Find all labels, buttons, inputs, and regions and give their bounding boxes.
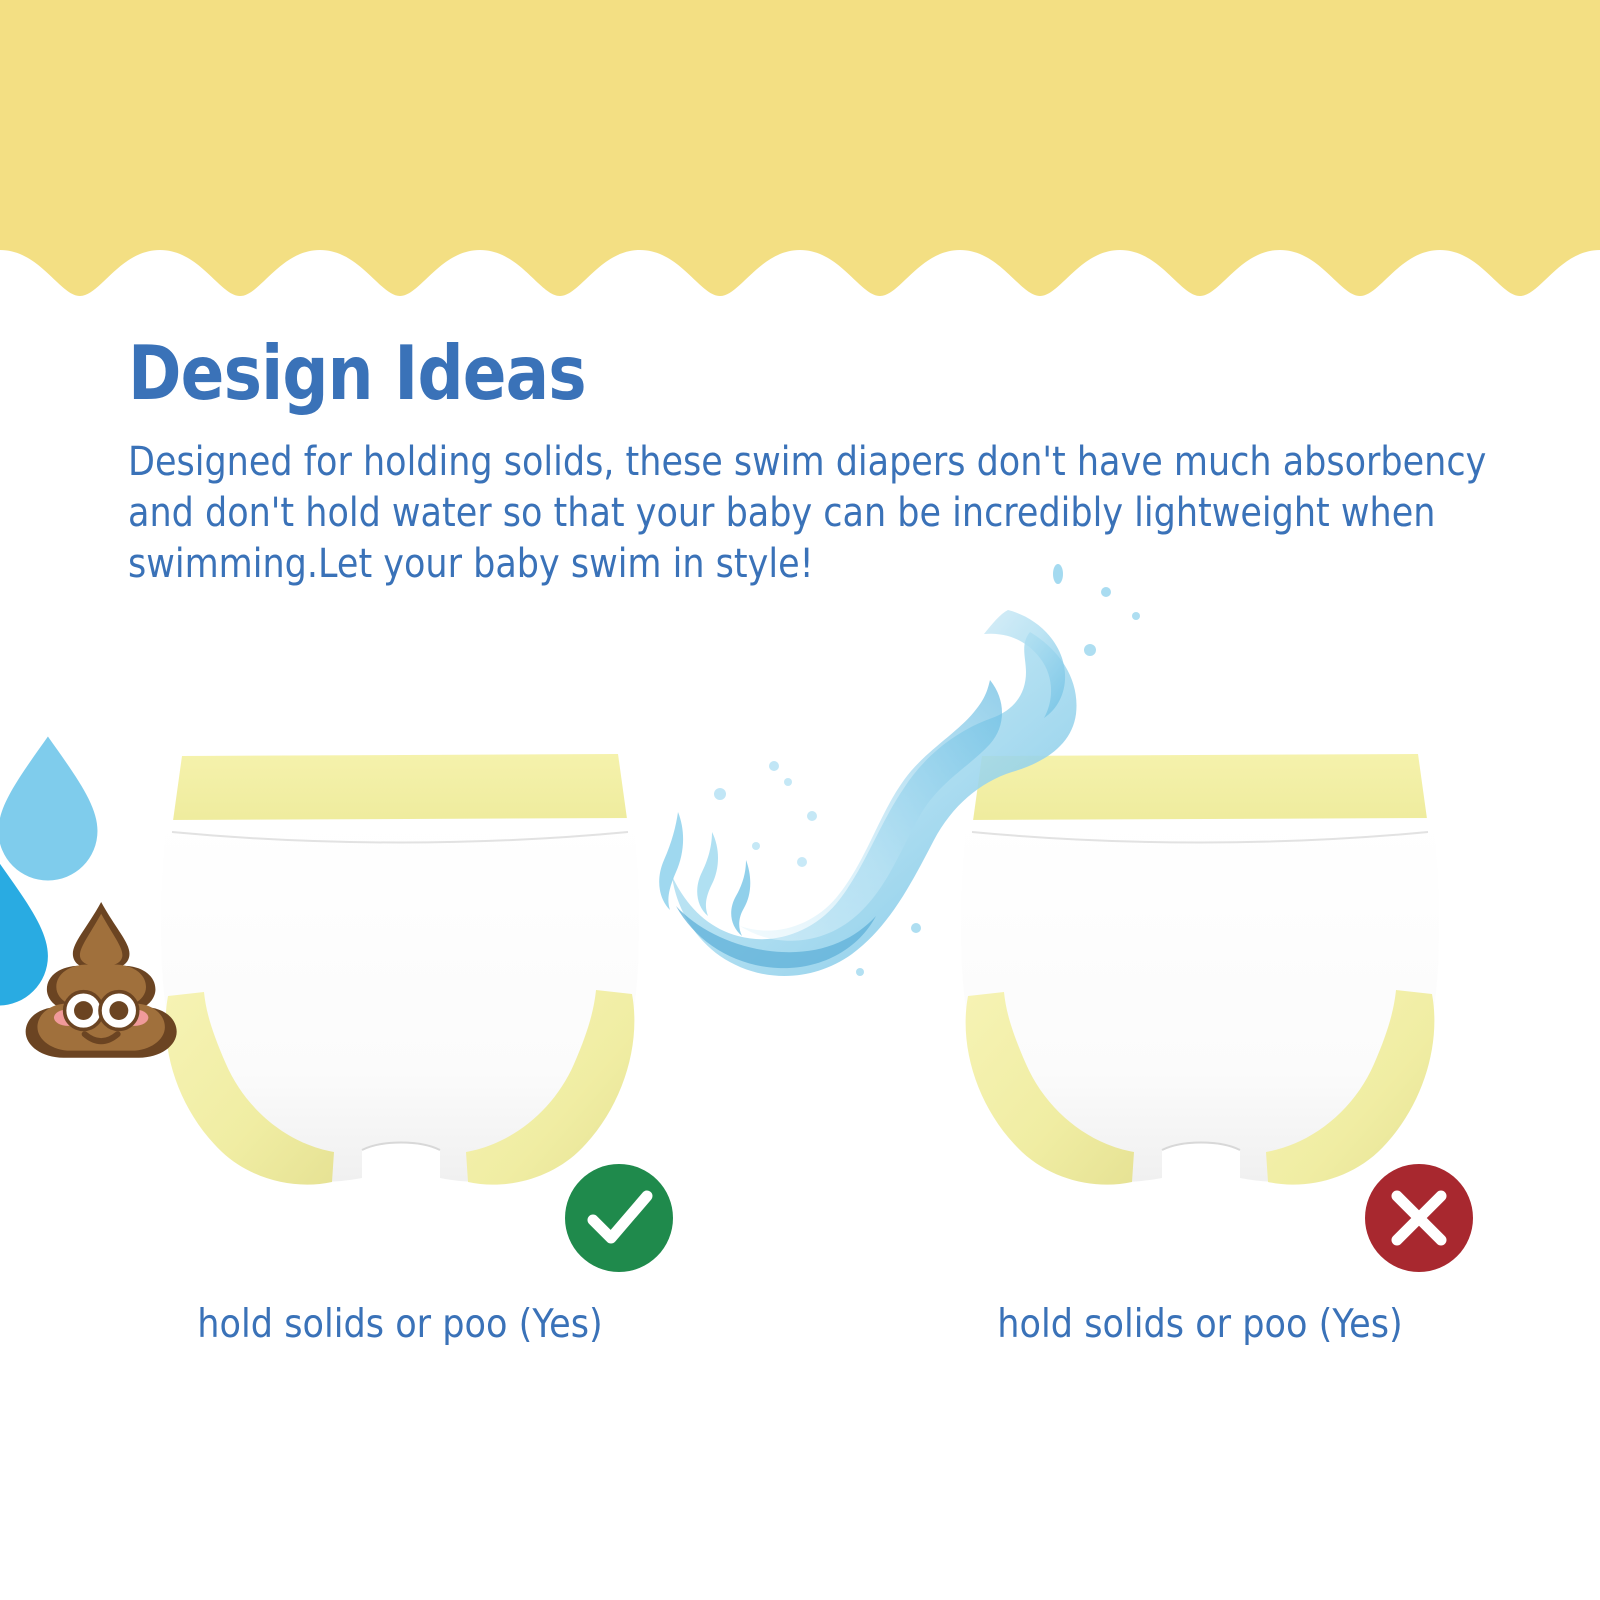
diaper-waistband bbox=[172, 754, 628, 828]
caption-left: hold solids or poo (Yes) bbox=[76, 1302, 724, 1347]
header-wave-band bbox=[0, 0, 1600, 300]
page-title: Design Ideas bbox=[128, 336, 1298, 411]
water-droplet-icon-2 bbox=[0, 727, 5, 892]
splash-droplet bbox=[1132, 612, 1140, 620]
intro-text-block: Design Ideas Designed for holding solids… bbox=[128, 336, 1488, 590]
caption-right: hold solids or poo (Yes) bbox=[876, 1302, 1524, 1347]
comparison-item-right: hold solids or poo (Yes) bbox=[840, 630, 1560, 1410]
splash-droplet bbox=[797, 857, 807, 867]
close-icon bbox=[1397, 1196, 1441, 1240]
splash-droplet bbox=[769, 761, 779, 771]
comparison-row: hold solids or poo (Yes) bbox=[0, 630, 1600, 1410]
comparison-item-left: hold solids or poo (Yes) bbox=[40, 630, 760, 1410]
page-description: Designed for holding solids, these swim … bbox=[128, 437, 1493, 590]
splash-droplet bbox=[1084, 644, 1096, 656]
splash-droplet bbox=[856, 968, 864, 976]
poop-smile bbox=[85, 1034, 118, 1041]
poop-cheek-left bbox=[54, 1009, 82, 1026]
status-badge-yes bbox=[565, 1164, 673, 1272]
header-wave-shape bbox=[0, 0, 1600, 296]
poop-eye-left bbox=[65, 992, 103, 1030]
check-icon bbox=[593, 1196, 647, 1238]
swim-diaper-illustration-right bbox=[920, 720, 1480, 1200]
diaper-waistband bbox=[972, 754, 1428, 828]
splash-droplet bbox=[784, 778, 792, 786]
swim-diaper-illustration-left bbox=[120, 720, 680, 1200]
splash-droplet bbox=[807, 811, 817, 821]
water-droplet-icon-3 bbox=[0, 727, 107, 892]
water-droplet-icon-5 bbox=[0, 852, 57, 1017]
status-badge-no bbox=[1365, 1164, 1473, 1272]
